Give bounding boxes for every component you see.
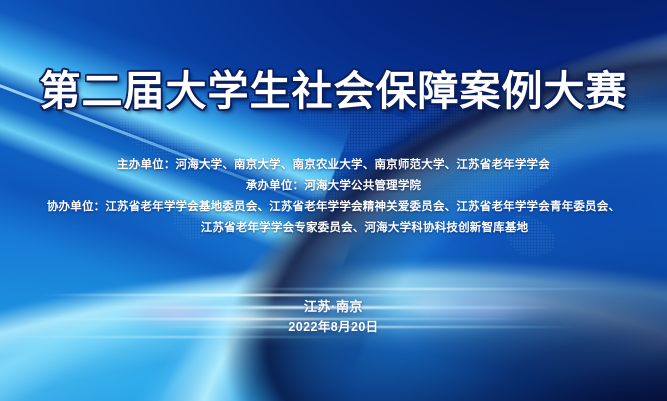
organizer-line-host: 主办单位：河海大学、南京大学、南京农业大学、南京师范大学、江苏省老年学学会 <box>0 155 667 176</box>
event-date: 2022年8月20日 <box>0 318 667 336</box>
banner-content: 第二届大学生社会保障案例大赛 主办单位：河海大学、南京大学、南京农业大学、南京师… <box>0 0 667 401</box>
event-banner: 第二届大学生社会保障案例大赛 主办单位：河海大学、南京大学、南京农业大学、南京师… <box>0 0 667 401</box>
event-location: 江苏·南京 <box>0 297 667 316</box>
organizer-block: 主办单位：河海大学、南京大学、南京农业大学、南京师范大学、江苏省老年学学会 承办… <box>0 155 667 239</box>
organizer-line-coorganizer-cont: 江苏省老年学学会专家委员会、河海大学科协科技创新智库基地 <box>0 218 667 239</box>
event-title: 第二届大学生社会保障案例大赛 <box>0 64 667 118</box>
organizer-line-coorganizer: 协办单位：江苏省老年学学会基地委员会、江苏省老年学学会精神关爱委员会、江苏省老年… <box>0 197 667 218</box>
organizer-line-undertaker: 承办单位：河海大学公共管理学院 <box>0 176 667 197</box>
